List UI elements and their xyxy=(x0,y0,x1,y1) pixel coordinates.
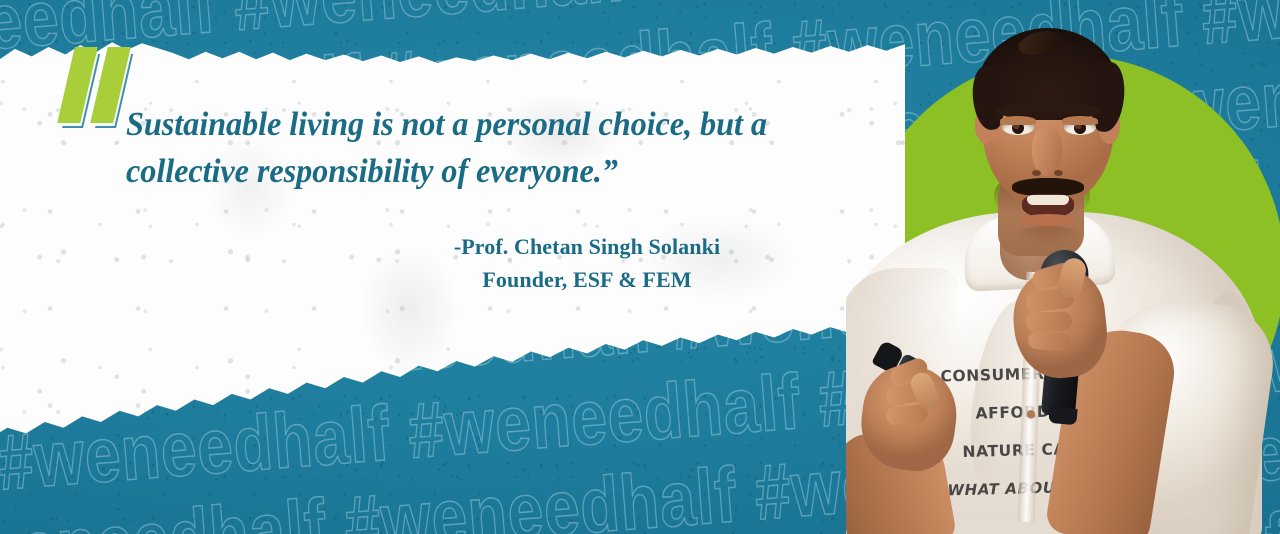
author-role: Founder, ESF & FEM xyxy=(340,263,834,296)
author-name: -Prof. Chetan Singh Solanki xyxy=(340,230,834,263)
nose xyxy=(1032,128,1062,176)
nostril-right xyxy=(1054,170,1063,176)
teeth xyxy=(1027,195,1069,205)
finger xyxy=(1027,331,1070,352)
lower-lip xyxy=(1020,214,1076,226)
quote-banner: #weneedhalf #weneedhalf #weneedhalf #wen… xyxy=(0,0,1280,534)
photo-bottom-edge xyxy=(846,516,1280,534)
quote-mark-bar-right xyxy=(90,47,131,123)
speaker-photo: CONSUMER CAN AFFORD, AFFORD, NATURE CANN… xyxy=(846,0,1280,534)
quote-line-1: Sustainable living is not a personal cho… xyxy=(126,101,840,148)
quote-text: Sustainable living is not a personal cho… xyxy=(126,101,866,195)
nostril-left xyxy=(1032,170,1041,176)
quote-line-2: collective responsibility of everyone.” xyxy=(126,148,840,195)
attribution-block: -Prof. Chetan Singh Solanki Founder, ESF… xyxy=(340,230,834,296)
kurta-button xyxy=(1027,410,1035,418)
chin-shadow xyxy=(1012,226,1084,246)
finger xyxy=(1026,311,1073,332)
eyelid-left xyxy=(1000,116,1036,125)
speaker-photo-inner: CONSUMER CAN AFFORD, AFFORD, NATURE CANN… xyxy=(846,0,1280,534)
microphone-tip xyxy=(1048,407,1077,425)
eyelid-right xyxy=(1062,116,1098,125)
